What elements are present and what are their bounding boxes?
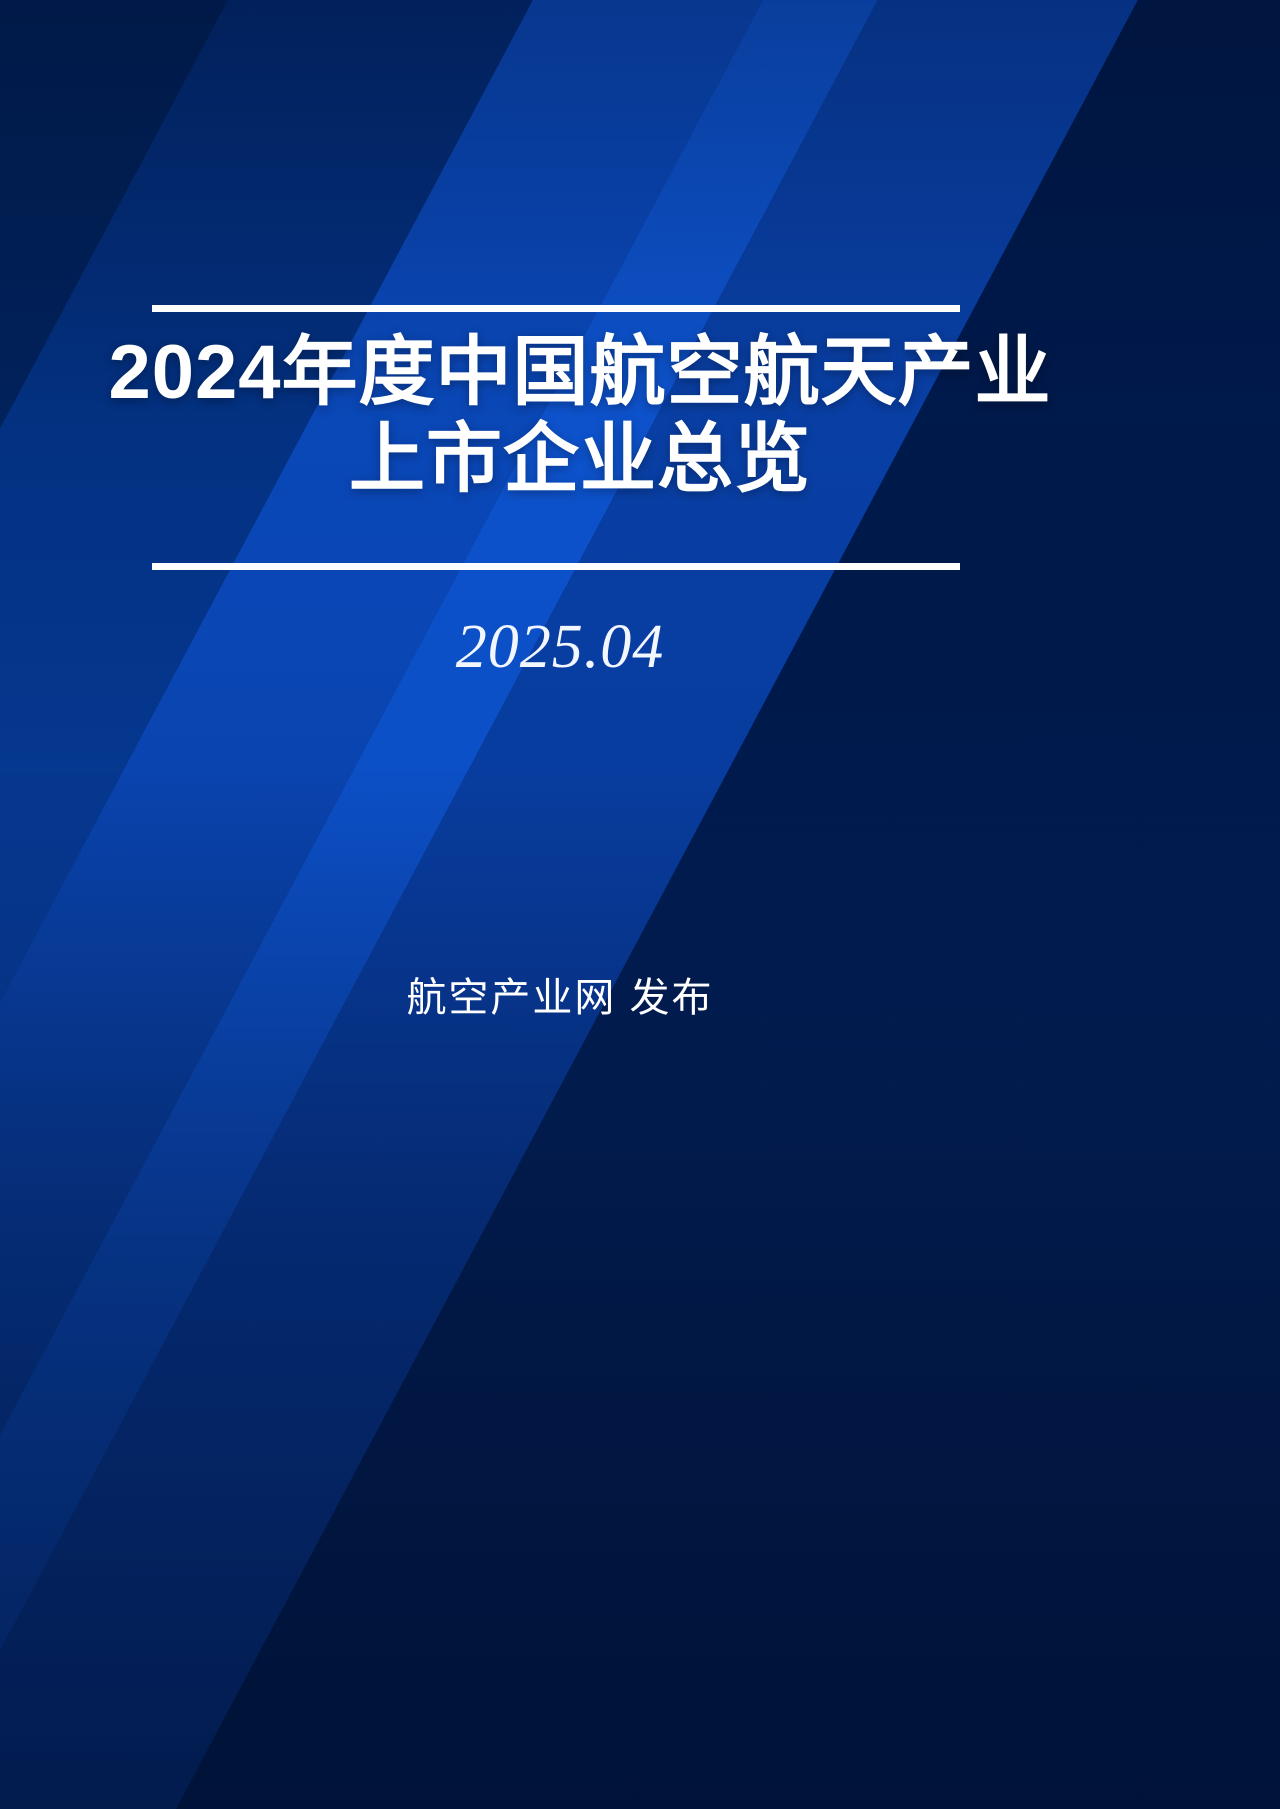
cover-page: 2024年度中国航空航天产业上市企业总览 2025.04 航空产业网 发布 [0,0,1280,1809]
publisher-credit: 航空产业网 发布 [0,965,1120,1023]
title-rule-bottom [152,563,960,570]
page-title: 2024年度中国航空航天产业上市企业总览 [80,330,1080,503]
cover-date: 2025.04 [0,612,1120,683]
cover-content: 2024年度中国航空航天产业上市企业总览 2025.04 航空产业网 发布 [0,0,1280,1809]
title-rule-top [152,305,960,312]
